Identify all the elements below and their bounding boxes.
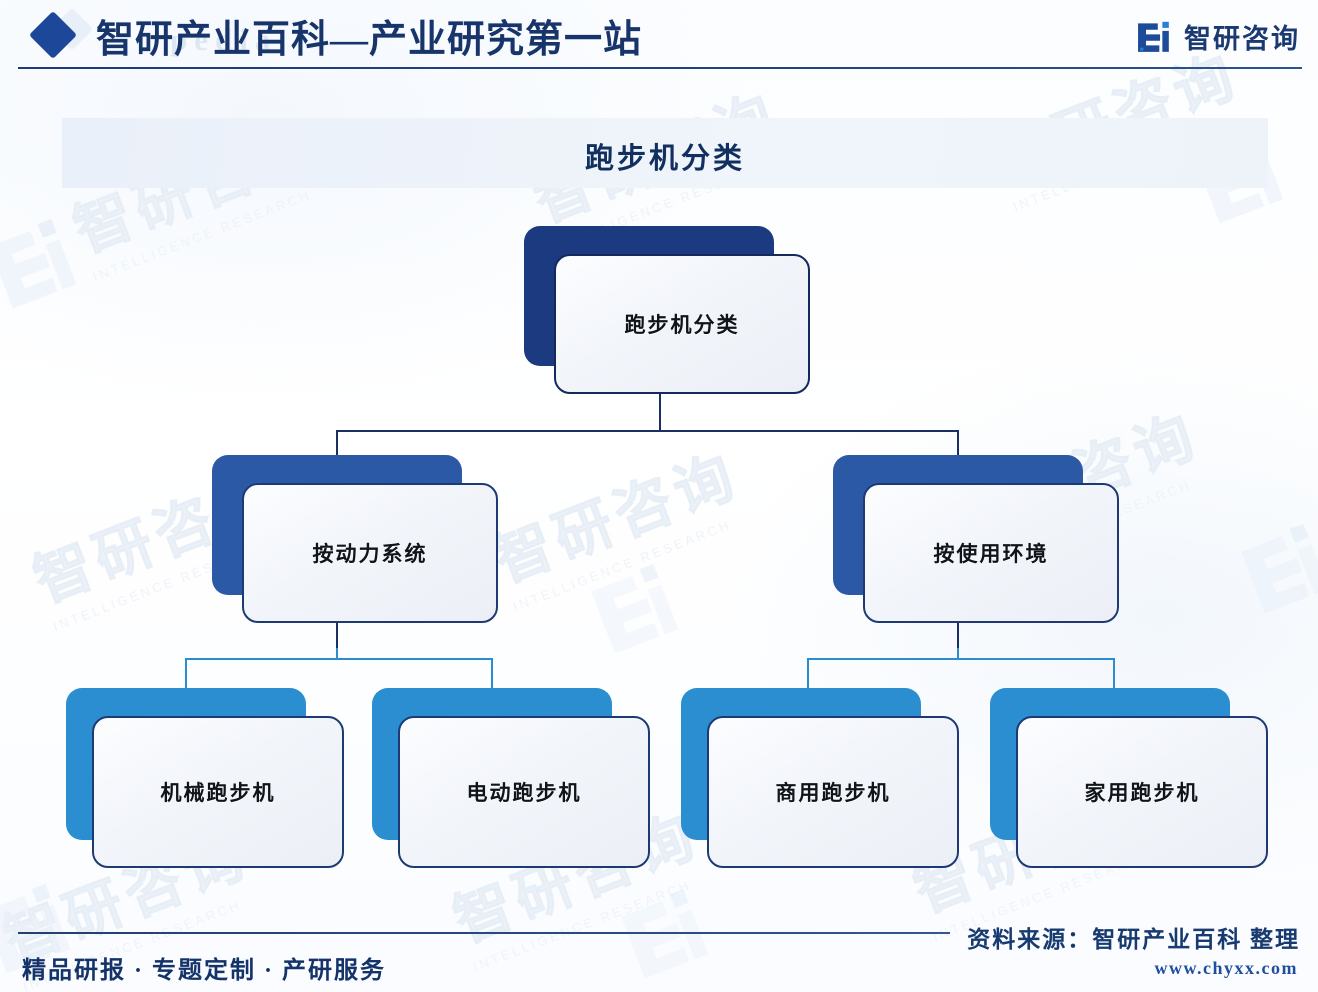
footer-url[interactable]: www.chyxx.com [1155, 958, 1299, 979]
page-canvas: 智研咨询 INTELLIGENCE RESEARCH 智研咨询 INTELLIG… [0, 0, 1318, 992]
page-footer: 精品研报 · 专题定制 · 产研服务 资料来源：智研产业百科 整理 www.ch… [0, 0, 1318, 992]
footer-divider [18, 932, 950, 934]
footer-source: 资料来源：智研产业百科 整理 [967, 920, 1300, 954]
footer-tagline: 精品研报 · 专题定制 · 产研服务 [22, 950, 386, 985]
